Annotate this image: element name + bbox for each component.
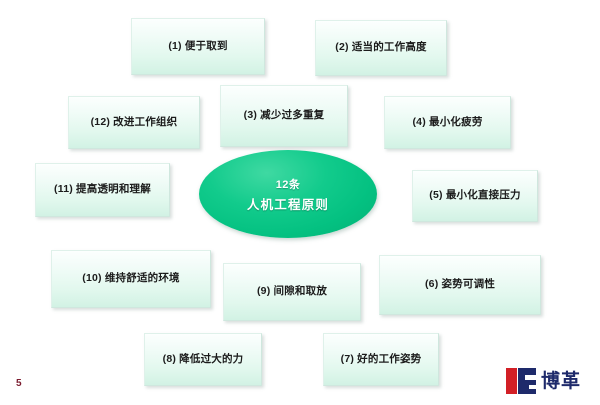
principle-node-1[interactable]: (1) 便于取到 [131, 18, 265, 75]
principle-label: (7) 好的工作姿势 [341, 353, 422, 366]
principle-label: (6) 姿势可调性 [425, 278, 495, 291]
principle-node-8[interactable]: (8) 降低过大的力 [144, 333, 262, 386]
principle-node-4[interactable]: (4) 最小化疲劳 [384, 96, 511, 149]
page-number: 5 [16, 378, 22, 389]
principle-node-3[interactable]: (3) 减少过多重复 [220, 85, 348, 147]
logo-navy-top [518, 368, 536, 375]
principle-label: (10) 维持舒适的环境 [82, 272, 180, 285]
principle-node-10[interactable]: (10) 维持舒适的环境 [51, 250, 211, 308]
center-title-line1: 12条 [276, 176, 300, 192]
logo-red-block [506, 368, 517, 394]
principle-label: (11) 提高透明和理解 [54, 183, 151, 196]
principle-label: (4) 最小化疲劳 [412, 116, 482, 129]
principle-label: (3) 减少过多重复 [244, 109, 325, 122]
brand-logo: 博革 [506, 366, 581, 396]
principle-label: (5) 最小化直接压力 [429, 189, 520, 202]
principle-node-12[interactable]: (12) 改进工作组织 [68, 96, 200, 149]
principle-node-9[interactable]: (9) 间隙和取放 [223, 263, 361, 321]
center-ellipse-node[interactable]: 12条 人机工程原则 [199, 150, 377, 238]
principle-node-6[interactable]: (6) 姿势可调性 [379, 255, 541, 315]
principle-label: (1) 便于取到 [168, 40, 227, 53]
principle-label: (8) 降低过大的力 [163, 353, 244, 366]
principle-node-2[interactable]: (2) 适当的工作高度 [315, 20, 447, 76]
principle-node-5[interactable]: (5) 最小化直接压力 [412, 170, 538, 222]
principle-label: (2) 适当的工作高度 [335, 41, 426, 54]
principle-node-11[interactable]: (11) 提高透明和理解 [35, 163, 170, 217]
brand-logo-text: 博革 [541, 372, 581, 391]
logo-notch [529, 385, 536, 389]
principle-label: (12) 改进工作组织 [91, 116, 178, 129]
principle-node-7[interactable]: (7) 好的工作姿势 [323, 333, 439, 386]
slide-canvas: (1) 便于取到(2) 适当的工作高度(3) 减少过多重复(12) 改进工作组织… [0, 0, 600, 405]
center-title-line2: 人机工程原则 [247, 194, 329, 213]
brand-logo-mark-icon [506, 368, 536, 394]
principle-label: (9) 间隙和取放 [257, 285, 327, 298]
